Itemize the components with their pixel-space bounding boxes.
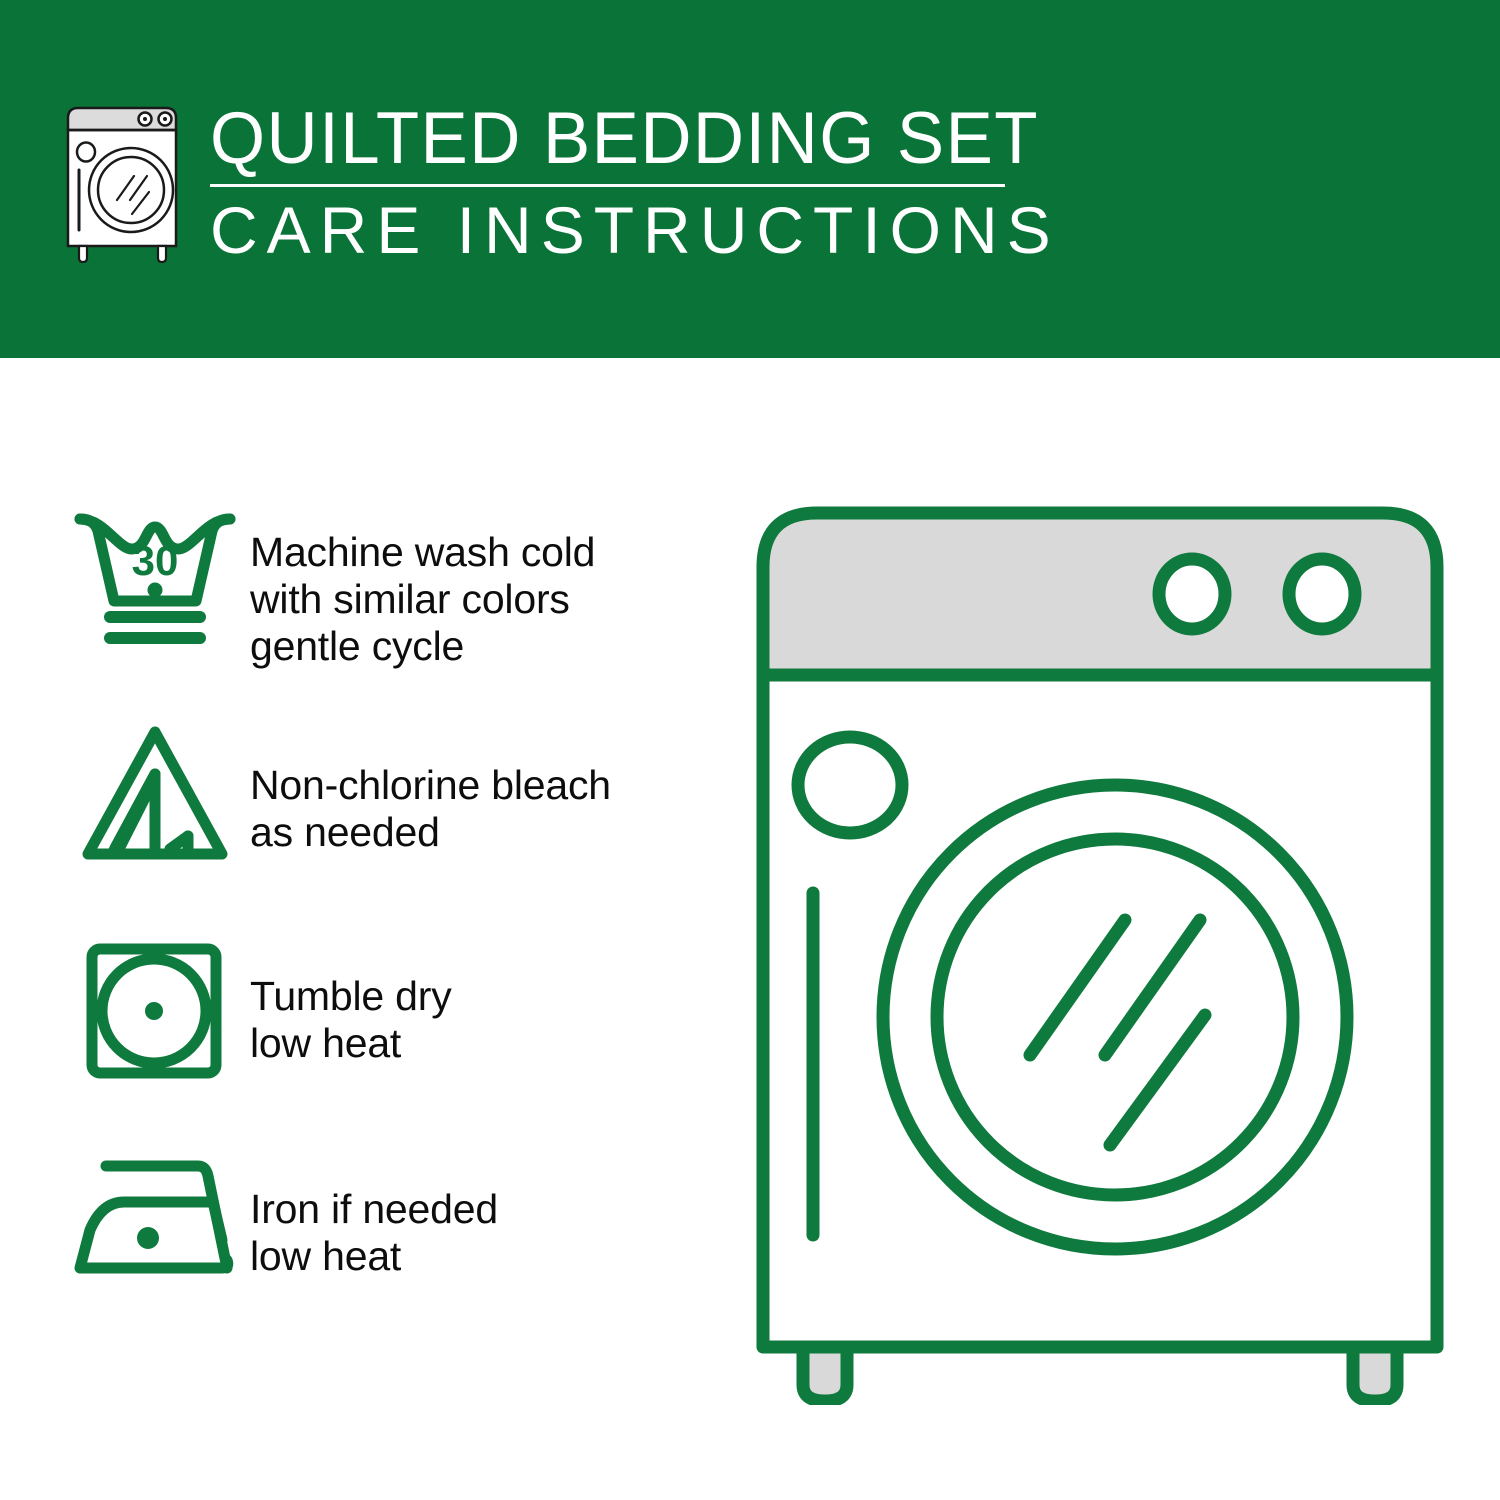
detergent-indicator bbox=[798, 737, 902, 833]
care-label-iron: Iron if needed low heat bbox=[250, 1150, 710, 1280]
care-instructions-list: 30 Machine wash cold with similar colors… bbox=[70, 505, 710, 1365]
machine-wash-30-gentle-symbol: 30 bbox=[70, 505, 250, 655]
wash-temperature-label: 30 bbox=[132, 537, 179, 584]
iron-low-heat-symbol bbox=[70, 1150, 250, 1300]
care-row-bleach: Non-chlorine bleach as needed bbox=[70, 720, 710, 935]
care-row-iron: Iron if needed low heat bbox=[70, 1150, 710, 1365]
header-title-group: QUILTED BEDDING SET CARE INSTRUCTIONS bbox=[210, 100, 1010, 265]
care-label-machine-wash: Machine wash cold with similar colors ge… bbox=[250, 505, 710, 670]
title-divider bbox=[210, 184, 1005, 187]
care-label-bleach: Non-chlorine bleach as needed bbox=[250, 720, 710, 856]
tumble-dry-low-symbol bbox=[70, 935, 250, 1085]
page-subtitle: CARE INSTRUCTIONS bbox=[210, 195, 1010, 265]
knob-left bbox=[1159, 559, 1225, 629]
knob-right bbox=[1289, 559, 1355, 629]
care-row-tumble-dry: Tumble dry low heat bbox=[70, 935, 710, 1150]
foot-left bbox=[803, 1347, 847, 1401]
foot-right bbox=[1353, 1347, 1397, 1401]
care-row-machine-wash: 30 Machine wash cold with similar colors… bbox=[70, 505, 710, 720]
header-content: QUILTED BEDDING SET CARE INSTRUCTIONS bbox=[62, 100, 1010, 271]
non-chlorine-bleach-symbol bbox=[70, 720, 250, 870]
washing-machine-illustration bbox=[745, 495, 1455, 1405]
care-label-tumble-dry: Tumble dry low heat bbox=[250, 935, 710, 1067]
page-title: QUILTED BEDDING SET bbox=[210, 100, 986, 178]
washing-machine-icon bbox=[62, 100, 190, 271]
header-banner: QUILTED BEDDING SET CARE INSTRUCTIONS bbox=[0, 0, 1500, 358]
